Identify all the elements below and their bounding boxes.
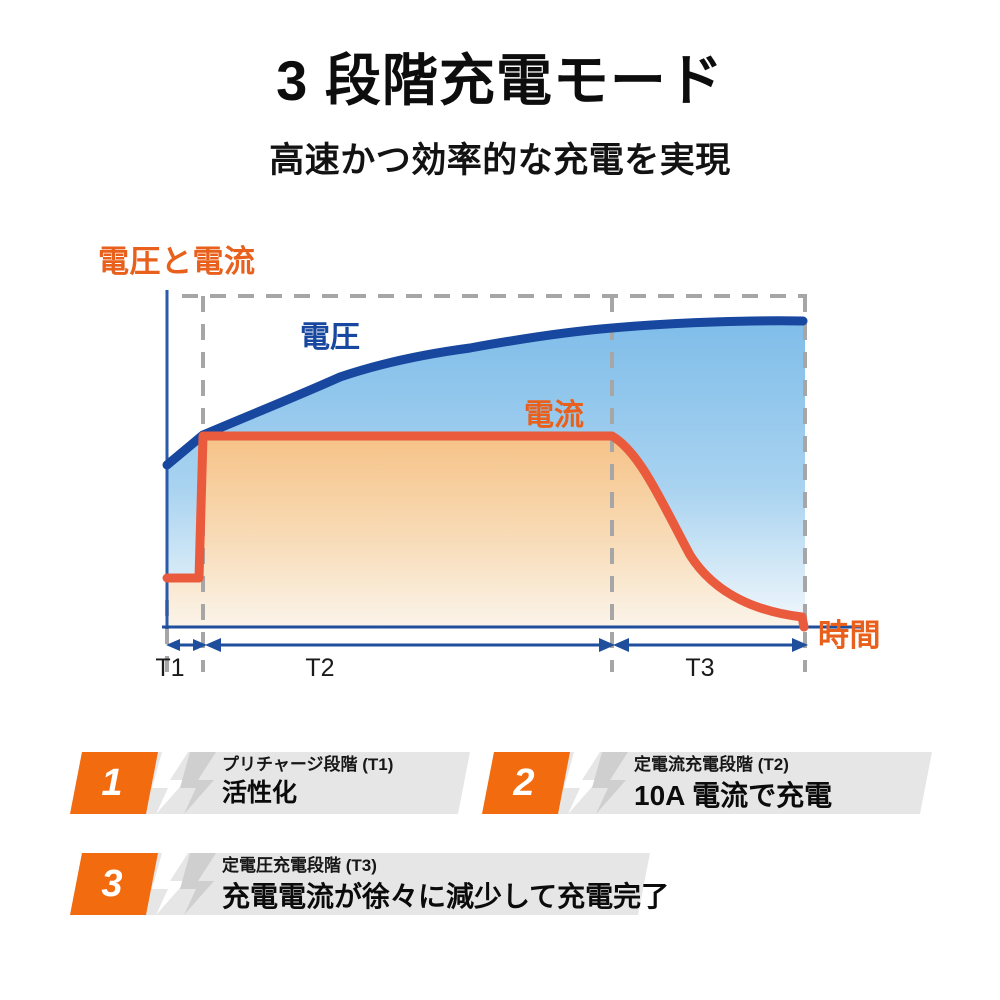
- stage-title-1: 活性化: [222, 778, 393, 809]
- stage-number-2: 2: [486, 752, 570, 814]
- x-tick-t3: T3: [680, 654, 720, 683]
- stage-card-2-text: 定電流充電段階 (T2) 10A 電流で充電: [634, 754, 832, 813]
- chart-canvas: [0, 0, 1000, 1000]
- y-axis-label: 電圧と電流: [98, 236, 256, 281]
- infographic-page: 3 段階充電モード 高速かつ効率的な充電を実現: [0, 0, 1000, 1000]
- current-series-label: 電流: [524, 390, 584, 434]
- stage-card-3[interactable]: 3 定電圧充電段階 (T3) 充電電流が徐々に減少して充電完了: [70, 853, 650, 915]
- stage-subtitle-1: プリチャージ段階 (T1): [222, 754, 393, 777]
- stage-title-3: 充電電流が徐々に減少して充電完了: [222, 879, 669, 914]
- t2-span-arrow: [205, 638, 615, 652]
- x-axis-label: 時間: [818, 610, 881, 655]
- x-tick-t2: T2: [290, 654, 350, 683]
- stage-number-1: 1: [74, 752, 158, 814]
- stage-subtitle-3: 定電圧充電段階 (T3): [222, 855, 669, 878]
- t3-span-arrow: [613, 638, 808, 652]
- stage-card-1[interactable]: 1 プリチャージ段階 (T1) 活性化: [70, 752, 470, 814]
- stage-title-2: 10A 電流で充電: [634, 778, 832, 813]
- x-tick-t1: T1: [150, 654, 190, 683]
- voltage-series-label: 電圧: [300, 312, 360, 356]
- stage-card-3-text: 定電圧充電段階 (T3) 充電電流が徐々に減少して充電完了: [222, 855, 669, 914]
- stage-card-1-text: プリチャージ段階 (T1) 活性化: [222, 754, 393, 809]
- stage-number-3: 3: [74, 853, 158, 915]
- stage-card-2[interactable]: 2 定電流充電段階 (T2) 10A 電流で充電: [482, 752, 932, 814]
- t1-span-arrow: [166, 639, 207, 651]
- stage-subtitle-2: 定電流充電段階 (T2): [634, 754, 832, 777]
